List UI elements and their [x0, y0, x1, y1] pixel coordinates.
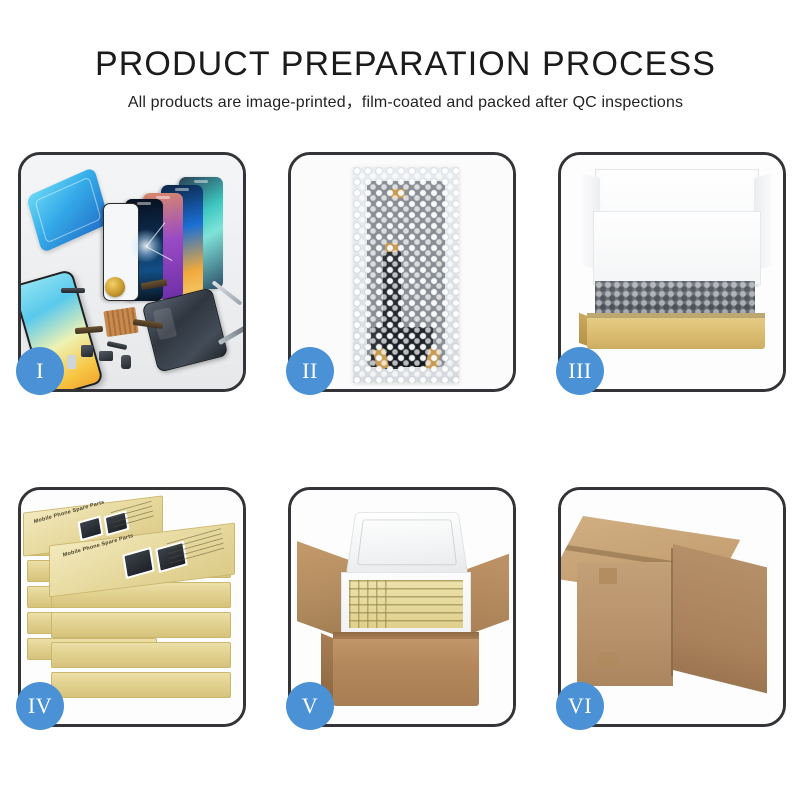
gold-box-tray-shape: [587, 313, 765, 349]
process-step-panel-5: V: [288, 487, 516, 727]
page-subtitle: All products are image-printed，film-coat…: [0, 93, 811, 113]
screen-flex-shape: [383, 251, 401, 369]
process-step-panel-6: VI: [558, 487, 786, 727]
flex-cable-shape: [75, 326, 103, 334]
process-step-panel-4: Mobile Phone Spare Parts Mobile Phone Sp…: [18, 487, 246, 727]
gold-contact-shape: [425, 348, 441, 370]
gold-contact-shape: [385, 243, 398, 252]
small-component-shape: [81, 345, 93, 357]
product-preparation-page: PRODUCT PREPARATION PROCESS All products…: [0, 0, 811, 811]
step-badge-3: III: [556, 347, 604, 395]
step-badge-5: V: [286, 682, 334, 730]
process-step-panel-3: III: [558, 152, 786, 392]
gold-contact-shape: [373, 348, 389, 370]
small-component-shape: [121, 355, 131, 369]
step-badge-2: II: [286, 347, 334, 395]
process-step-panel-2: II: [288, 152, 516, 392]
carton-right-face-shape: [673, 544, 767, 693]
small-component-shape: [67, 355, 76, 369]
page-header: PRODUCT PREPARATION PROCESS All products…: [0, 44, 811, 113]
carton-edge-shape: [671, 548, 673, 676]
carton-tape-shape: [599, 652, 617, 668]
process-step-panel-1: I: [18, 152, 246, 392]
process-steps-grid: I II: [18, 152, 793, 727]
carton-front-shape: [333, 632, 479, 706]
gold-contact-shape: [391, 189, 405, 198]
page-title: PRODUCT PREPARATION PROCESS: [0, 44, 811, 84]
foam-lid-shape: [346, 512, 468, 575]
step-badge-6: VI: [556, 682, 604, 730]
cracked-screen-shape: [129, 229, 163, 263]
speaker-part-shape: [107, 341, 128, 350]
wrapped-base-shape: [399, 327, 433, 367]
bubble-wrap-layer-shape: [595, 281, 755, 317]
foam-sheet-shape: [593, 211, 761, 285]
gold-boxes-inside-shape: [349, 580, 463, 628]
wrapped-base-shape: [371, 327, 425, 367]
coil-part-shape: [105, 277, 125, 297]
small-component-shape: [99, 351, 113, 361]
wrapped-screen-shape: [367, 181, 445, 367]
speaker-part-shape: [61, 288, 85, 293]
step-badge-1: I: [16, 347, 64, 395]
bubble-wrap-bag-shape: [353, 167, 459, 383]
step-badge-4: IV: [16, 682, 64, 730]
screen-protector-shape: [26, 167, 110, 253]
carton-left-face-shape: [577, 562, 673, 686]
carton-tape-shape: [599, 568, 617, 584]
